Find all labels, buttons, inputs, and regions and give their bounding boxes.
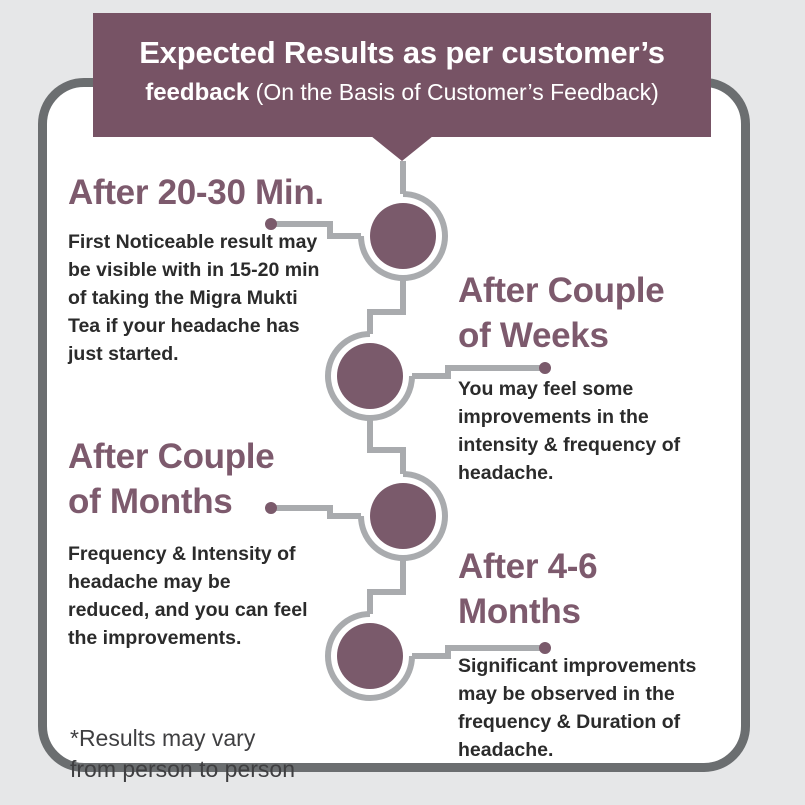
banner-pointer-triangle [371, 136, 433, 161]
banner-subtitle-bold: feedback [145, 79, 249, 106]
step-4-heading: After 4-6 Months [458, 544, 738, 634]
step-2-heading: After Couple of Weeks [458, 268, 738, 358]
step-3-body: Frequency & Intensity of headache may be… [68, 540, 388, 652]
infographic-root: Expected Results as per customer’s feedb… [0, 0, 805, 805]
step-4-body: Significant improvements may be observed… [458, 652, 738, 764]
step-2-body: You may feel some improvements in the in… [458, 375, 738, 487]
header-banner: Expected Results as per customer’s feedb… [93, 13, 711, 137]
step-block-4: After 4-6 Months Significant improvement… [458, 544, 738, 764]
disclaimer-note: *Results may vary from person to person [70, 723, 400, 785]
step-block-2: After Couple of Weeks You may feel some … [458, 268, 738, 487]
step-1-heading: After 20-30 Min. [68, 170, 388, 215]
step-1-body: First Noticeable result may be visible w… [68, 228, 388, 368]
banner-title-line-1: Expected Results as per customer’s [93, 33, 711, 73]
step-3-heading: After Couple of Months [68, 434, 388, 524]
step-block-1: After 20-30 Min. First Noticeable result… [68, 170, 388, 368]
banner-title-line-2: feedback (On the Basis of Customer’s Fee… [93, 75, 711, 110]
banner-subtitle-rest: (On the Basis of Customer’s Feedback) [249, 79, 659, 105]
step-block-3: After Couple of Months Frequency & Inten… [68, 434, 388, 652]
